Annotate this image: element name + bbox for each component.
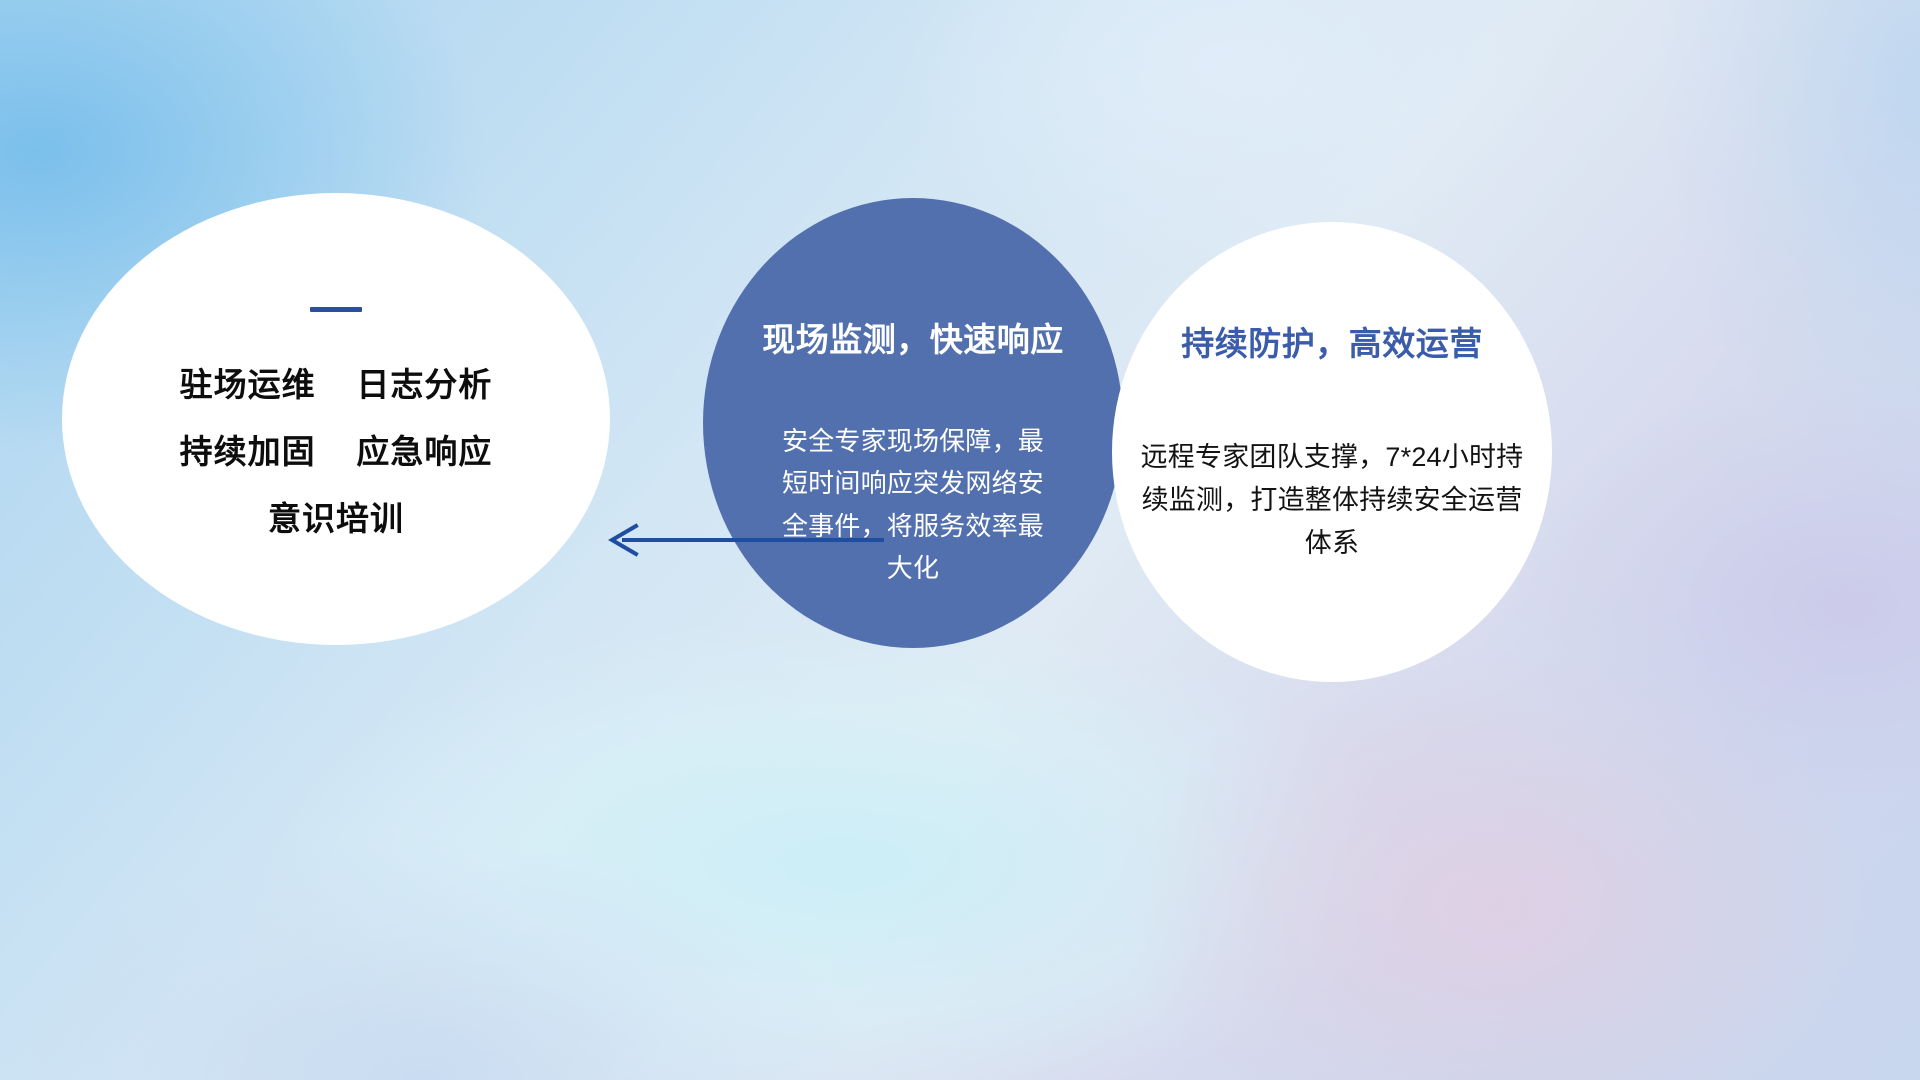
left-arrow-icon bbox=[596, 516, 886, 564]
left-capability-circle[interactable]: 驻场运维 日志分析 持续加固 应急响应 意识培训 bbox=[62, 193, 610, 645]
middle-onsite-circle[interactable]: 现场监测，快速响应 安全专家现场保障，最短时间响应突发网络安全事件，将服务效率最… bbox=[703, 198, 1123, 648]
right-circle-title: 持续防护，高效运营 bbox=[1181, 326, 1483, 362]
divider-dash-icon bbox=[310, 307, 362, 312]
right-circle-body: 远程专家团队支撑，7*24小时持续监测，打造整体持续安全运营体系 bbox=[1132, 436, 1532, 564]
left-circle-line-1: 驻场运维 日志分析 bbox=[180, 368, 493, 401]
left-circle-line-2: 持续加固 应急响应 bbox=[180, 435, 493, 468]
right-circle-content: 持续防护，高效运营 远程专家团队支撑，7*24小时持续监测，打造整体持续安全运营… bbox=[1112, 222, 1552, 682]
middle-circle-content: 现场监测，快速响应 安全专家现场保障，最短时间响应突发网络安全事件，将服务效率最… bbox=[703, 198, 1123, 648]
left-circle-content: 驻场运维 日志分析 持续加固 应急响应 意识培训 bbox=[62, 193, 610, 645]
left-circle-line-3: 意识培训 bbox=[268, 502, 404, 535]
right-operations-circle[interactable]: 持续防护，高效运营 远程专家团队支撑，7*24小时持续监测，打造整体持续安全运营… bbox=[1112, 222, 1552, 682]
middle-circle-title: 现场监测，快速响应 bbox=[762, 322, 1064, 358]
slide-canvas: 驻场运维 日志分析 持续加固 应急响应 意识培训 现场监测，快速响应 安全专家现… bbox=[0, 0, 1920, 1080]
